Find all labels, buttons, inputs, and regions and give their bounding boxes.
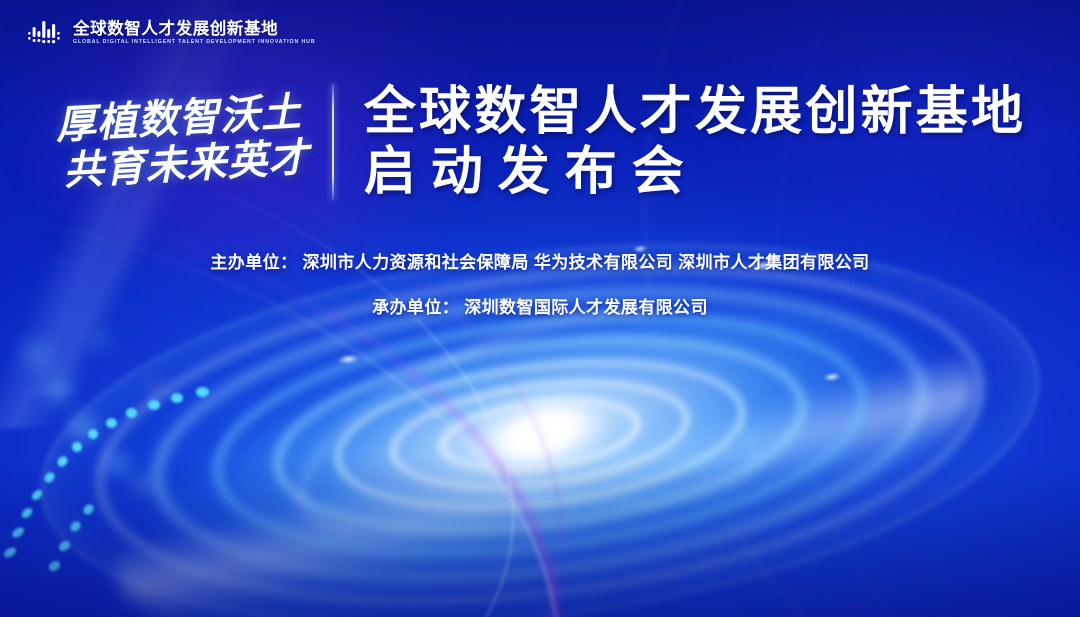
organizing-organization-line: 承办单位： 深圳数智国际人才发展有限公司	[372, 293, 708, 318]
calligraphy-line-2: 共育未来英才	[62, 137, 310, 192]
brand-logo-text: 全球数智人才发展创新基地 GLOBAL DIGITAL INTELLIGENT …	[73, 21, 316, 45]
organizer-block: 主办单位： 深圳市人力资源和社会保障局 华为技术有限公司 深圳市人才集团有限公司…	[0, 248, 1080, 318]
brand-name-en: GLOBAL DIGITAL INTELLIGENT TALENT DEVELO…	[73, 39, 316, 45]
event-title: 全球数智人才发展创新基地 启动发布会	[364, 86, 1026, 198]
vertical-divider	[332, 84, 334, 200]
event-title-line-2: 启动发布会	[364, 146, 1026, 198]
host-organizations-line: 主办单位： 深圳市人力资源和社会保障局 华为技术有限公司 深圳市人才集团有限公司	[210, 248, 869, 273]
calligraphy-slogan: 厚植数智沃土 共育未来英才	[52, 91, 308, 192]
brand-name-cn: 全球数智人才发展创新基地	[73, 21, 316, 38]
event-title-line-1: 全球数智人才发展创新基地	[364, 86, 1026, 138]
brand-logo[interactable]: 全球数智人才发展创新基地 GLOBAL DIGITAL INTELLIGENT …	[28, 20, 316, 46]
event-backdrop-poster: 全球数智人才发展创新基地 GLOBAL DIGITAL INTELLIGENT …	[0, 0, 1080, 617]
background-bottom-shade	[0, 457, 1080, 617]
headline-block: 厚植数智沃土 共育未来英才 全球数智人才发展创新基地 启动发布会	[0, 84, 1080, 200]
equalizer-bars-icon	[28, 20, 62, 46]
